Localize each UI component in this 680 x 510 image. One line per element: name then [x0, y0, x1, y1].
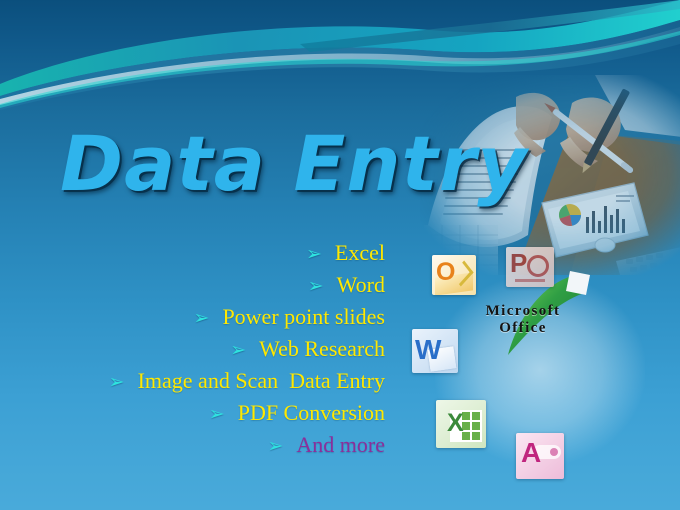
presentation-slide: O P W X — [0, 0, 680, 510]
header-swoosh-decoration — [0, 0, 680, 120]
list-item-label: And more — [296, 432, 385, 458]
list-item: ➢ Word — [40, 272, 385, 304]
logo-glow — [435, 275, 645, 465]
arrow-bullet-icon: ➢ — [230, 341, 246, 360]
list-item: ➢ Web Research — [40, 336, 385, 368]
office-swoosh-icon — [498, 269, 598, 369]
list-item: ➢ And more — [40, 432, 385, 464]
list-item: ➢ Power point slides — [40, 304, 385, 336]
arrow-bullet-icon: ➢ — [109, 373, 125, 392]
list-item: ➢ Excel — [40, 240, 385, 272]
microsoft-office-logo-cluster: O P W X — [410, 255, 680, 510]
arrow-bullet-icon: ➢ — [194, 309, 210, 328]
list-item-label: Power point slides — [222, 304, 385, 330]
brand-line-1: Microsoft — [458, 303, 588, 320]
word-icon: W — [412, 329, 458, 373]
slide-title: Data Entry — [60, 119, 528, 208]
excel-icon: X — [436, 400, 486, 448]
list-item-label: Word — [337, 272, 385, 298]
arrow-bullet-icon: ➢ — [308, 277, 324, 296]
services-bullet-list: ➢ Excel ➢ Word ➢ Power point slides ➢ We… — [40, 240, 385, 464]
list-item-label: PDF Conversion — [238, 400, 385, 426]
access-icon: A — [516, 433, 564, 479]
list-item-label: Excel — [335, 240, 385, 266]
powerpoint-icon: P — [506, 247, 554, 287]
arrow-bullet-icon: ➢ — [267, 437, 283, 456]
list-item: ➢ Image and Scan Data Entry — [40, 368, 385, 400]
microsoft-office-wordmark: Microsoft Office — [458, 303, 588, 338]
outlook-icon: O — [432, 255, 476, 295]
brand-line-2: Office — [458, 320, 588, 337]
list-item-label: Image and Scan Data Entry — [138, 368, 385, 394]
arrow-bullet-icon: ➢ — [306, 245, 322, 264]
artwork-pane: O P W X — [410, 0, 680, 510]
arrow-bullet-icon: ➢ — [209, 405, 225, 424]
list-item: ➢ PDF Conversion — [40, 400, 385, 432]
list-item-label: Web Research — [259, 336, 385, 362]
